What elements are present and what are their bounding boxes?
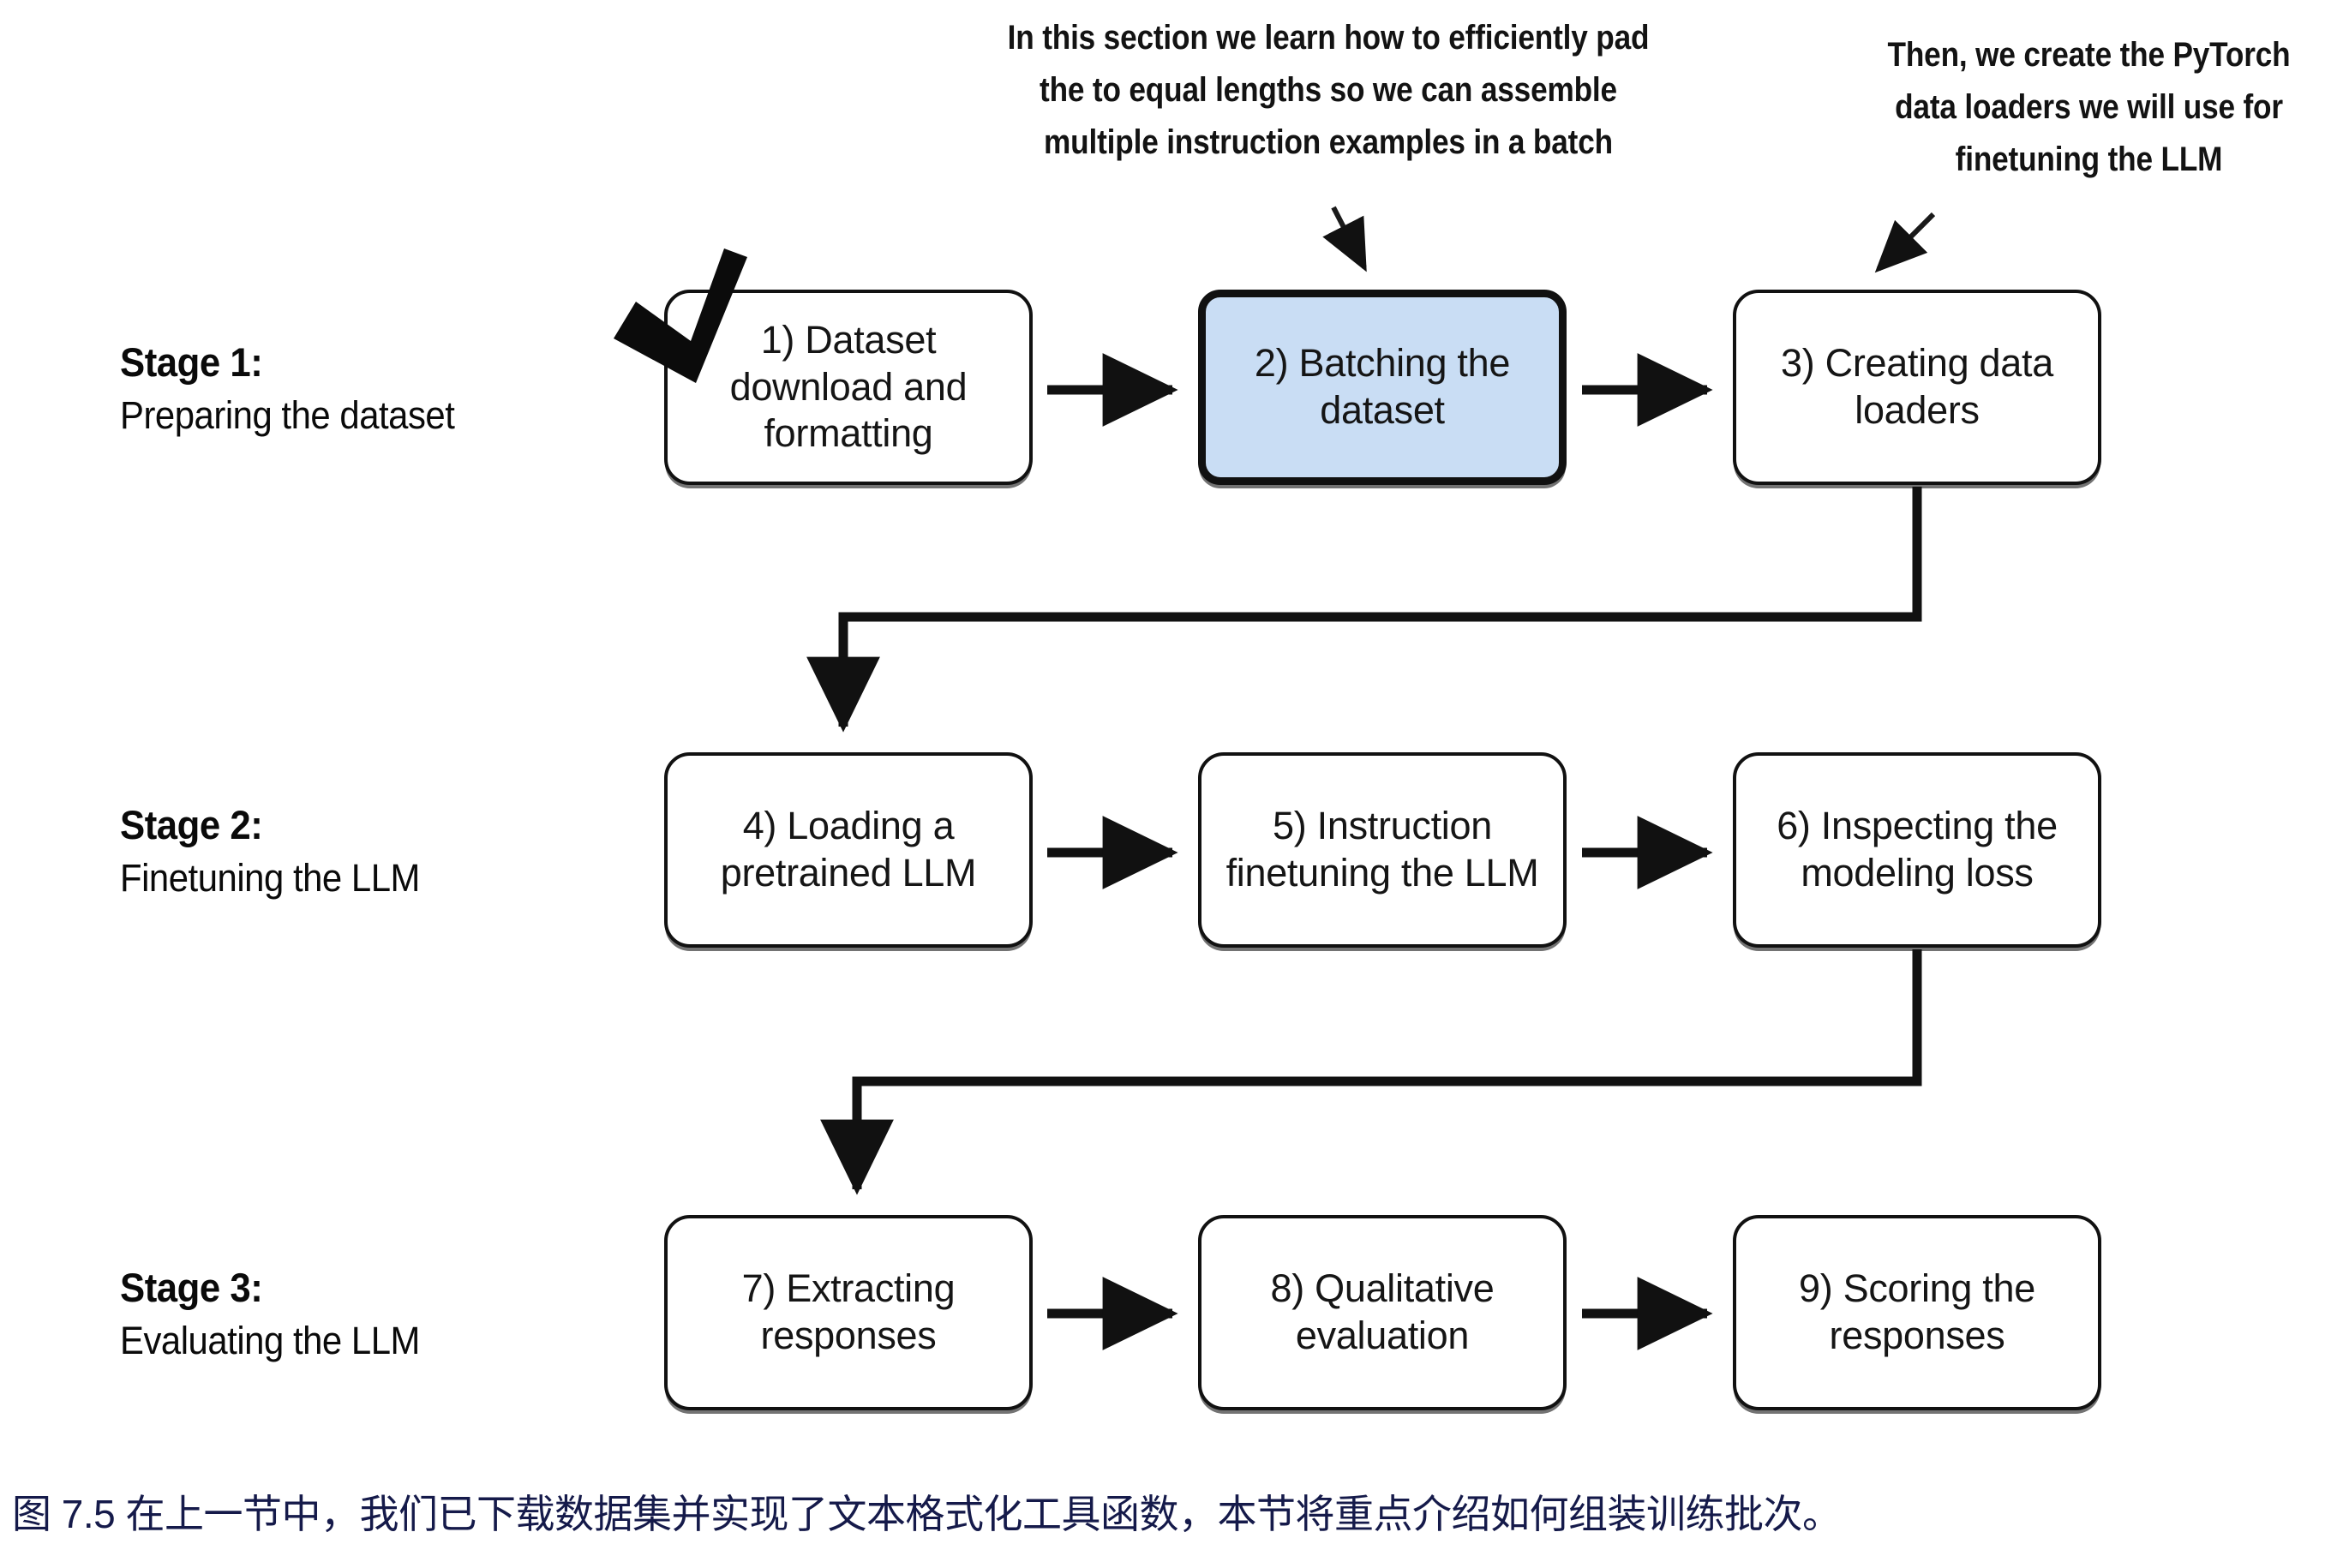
flow-node-6-label: 6) Inspecting the modeling loss (1750, 803, 2084, 897)
stage-1-title: Stage 1: (120, 338, 454, 386)
flow-node-2-label: 2) Batching the dataset (1219, 340, 1545, 434)
flow-node-4-label: 4) Loading a pretrained LLM (681, 803, 1016, 897)
annotation-batching: In this section we learn how to efficien… (981, 12, 1675, 168)
stage-1-subtitle: Preparing the dataset (120, 392, 454, 439)
figure-caption: 图 7.5 在上一节中，我们已下载数据集并实现了文本格式化工具函数，本节将重点介… (12, 1491, 1842, 1538)
flow-node-8-label: 8) Qualitative evaluation (1215, 1266, 1549, 1360)
stage-label-1: Stage 1: Preparing the dataset (120, 338, 480, 439)
flow-node-3[interactable]: 3) Creating data loaders (1733, 290, 2101, 485)
flow-node-1-label: 1) Dataset download and formatting (681, 317, 1016, 458)
flow-node-7[interactable]: 7) Extracting responses (664, 1215, 1033, 1410)
flow-node-9-label: 9) Scoring the responses (1750, 1266, 2084, 1360)
annotation-arrow-batching (1333, 207, 1364, 267)
flow-node-5-label: 5) Instruction finetuning the LLM (1215, 803, 1549, 897)
annotation-dataloaders: Then, we create the PyTorch data loaders… (1873, 29, 2306, 185)
flow-node-1[interactable]: 1) Dataset download and formatting (664, 290, 1033, 485)
flow-node-5[interactable]: 5) Instruction finetuning the LLM (1198, 752, 1567, 948)
stage-3-title: Stage 3: (120, 1264, 420, 1311)
connector-node6-to-node7 (857, 949, 1917, 1189)
flow-node-2[interactable]: 2) Batching the dataset (1198, 290, 1567, 485)
flow-node-3-label: 3) Creating data loaders (1750, 340, 2084, 434)
figure-canvas: In this section we learn how to efficien… (0, 0, 2343, 1568)
flow-node-9[interactable]: 9) Scoring the responses (1733, 1215, 2101, 1410)
flow-node-7-label: 7) Extracting responses (681, 1266, 1016, 1360)
connector-node3-to-node4 (843, 487, 1917, 727)
flow-node-4[interactable]: 4) Loading a pretrained LLM (664, 752, 1033, 948)
annotation-arrow-dataloaders (1879, 214, 1933, 269)
flow-node-6[interactable]: 6) Inspecting the modeling loss (1733, 752, 2101, 948)
stage-label-3: Stage 3: Evaluating the LLM (120, 1264, 442, 1364)
stage-2-subtitle: Finetuning the LLM (120, 855, 420, 901)
stage-label-2: Stage 2: Finetuning the LLM (120, 801, 442, 901)
flow-node-8[interactable]: 8) Qualitative evaluation (1198, 1215, 1567, 1410)
stage-3-subtitle: Evaluating the LLM (120, 1318, 420, 1364)
stage-2-title: Stage 2: (120, 801, 420, 848)
